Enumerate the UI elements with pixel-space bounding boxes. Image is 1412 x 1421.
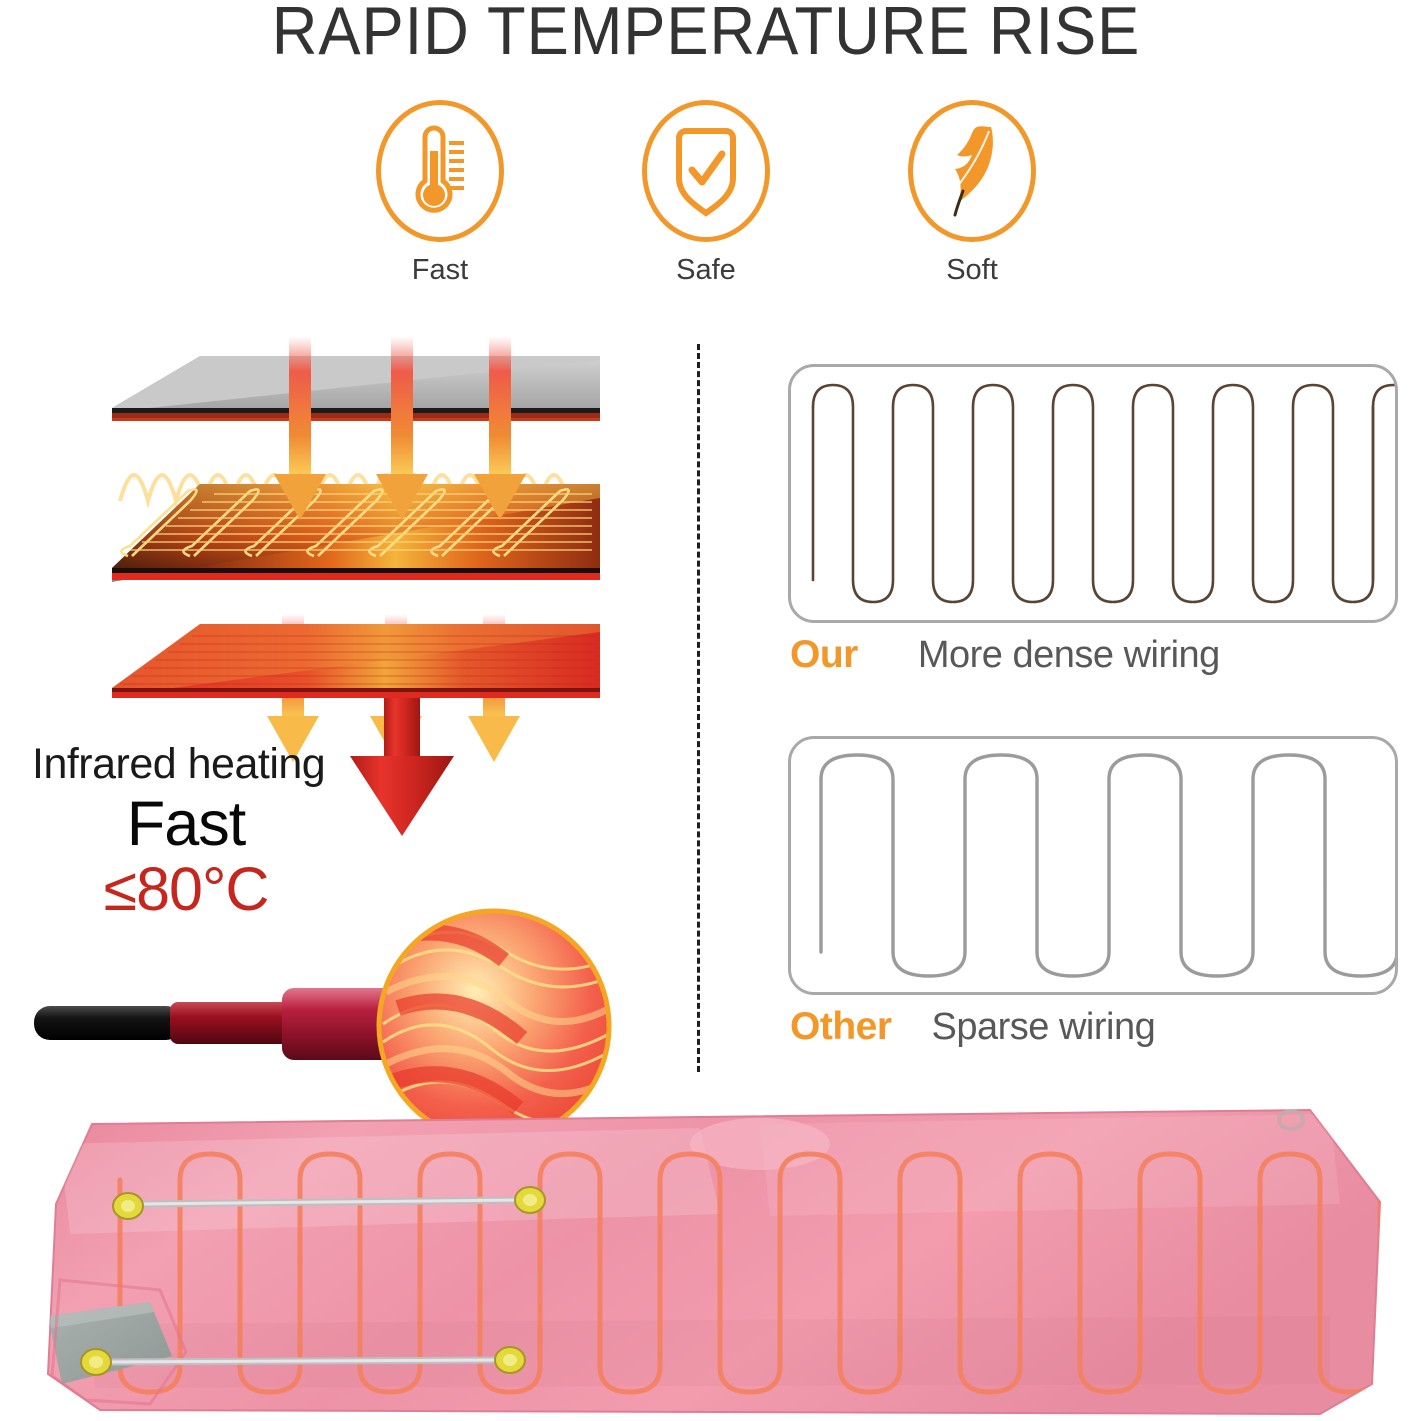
- thermometer-icon: [376, 100, 504, 242]
- feature-label: Soft: [946, 254, 998, 287]
- infrared-heating-label: Infrared heating: [32, 740, 325, 789]
- zipper-pull-bottom-left: [81, 1349, 111, 1375]
- page-title: RAPID TEMPERATURE RISE: [49, 0, 1362, 67]
- heating-wire-layer: [112, 484, 600, 582]
- top-fabric-layer: [112, 356, 600, 421]
- our-wiring-panel: [788, 364, 1398, 623]
- zipper-pull-top-left: [113, 1193, 143, 1219]
- feature-icon-row: Fast Safe Soft: [0, 100, 1412, 287]
- fast-label: Fast: [0, 788, 372, 860]
- cable-black-sheath: [34, 1006, 182, 1040]
- sparse-wire-path: [821, 755, 1395, 976]
- feature-fast: Fast: [369, 100, 511, 287]
- other-label: Other: [790, 1005, 892, 1049]
- pink-sauna-blanket-photo: [0, 1084, 1412, 1421]
- feature-label: Fast: [412, 254, 468, 287]
- infrared-emitting-layer: [112, 624, 600, 698]
- zipper-pull-bottom-right: [495, 1347, 525, 1373]
- shield-check-icon: [642, 100, 770, 242]
- infrared-heating-layer-diagram: Infrared heating Fast ≤80°C: [0, 336, 690, 1084]
- our-caption-row: Our More dense wiring: [790, 633, 1220, 677]
- feature-safe: Safe: [635, 100, 777, 287]
- our-desc-text: More dense wiring: [918, 634, 1220, 677]
- wiring-comparison: Our More dense wiring Other Sparse wirin…: [760, 336, 1412, 1084]
- feature-soft: Soft: [901, 100, 1043, 287]
- other-caption-row: Other Sparse wiring: [790, 1005, 1155, 1049]
- our-label: Our: [790, 633, 858, 677]
- mid-section: Infrared heating Fast ≤80°C: [0, 336, 1412, 1084]
- cable-red-inner: [170, 1002, 290, 1044]
- other-wiring-panel: [788, 736, 1398, 995]
- vertical-dashed-divider: [697, 344, 700, 1072]
- blanket-body: [48, 1110, 1412, 1414]
- feature-label: Safe: [676, 254, 736, 287]
- zipper-pull-top-right: [515, 1187, 545, 1213]
- feather-icon: [908, 100, 1036, 242]
- other-desc-text: Sparse wiring: [932, 1006, 1156, 1049]
- dense-wire-path: [813, 385, 1395, 602]
